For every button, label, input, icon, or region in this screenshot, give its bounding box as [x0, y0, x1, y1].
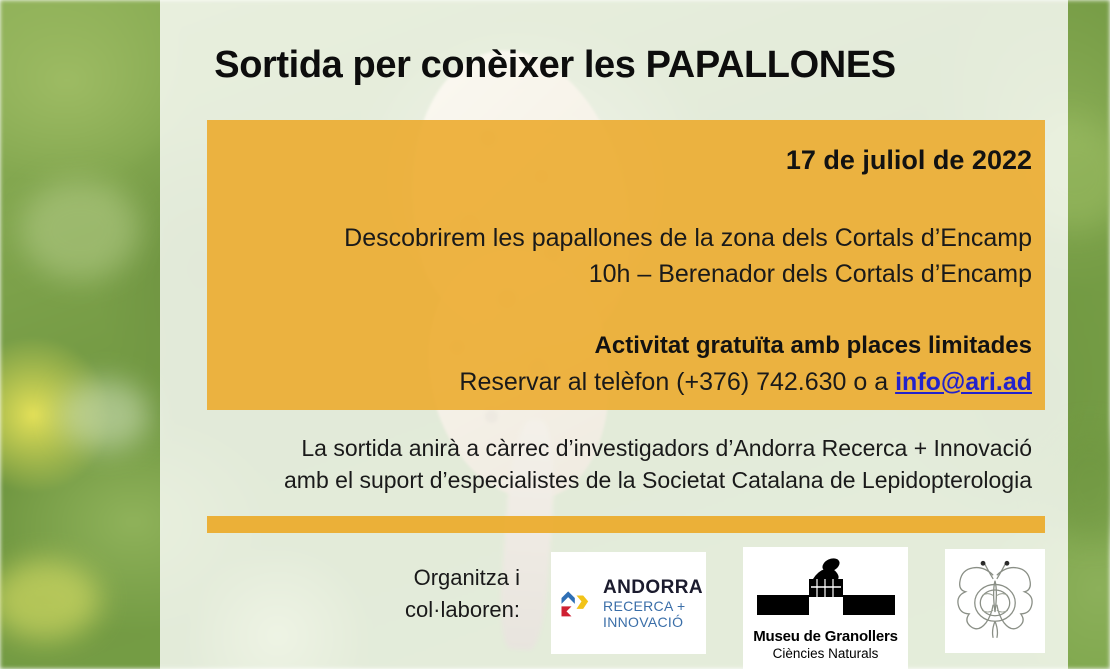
logo-museu-granollers: Museu de Granollers Ciències Naturals [743, 547, 908, 669]
organizers-label-line-1: Organitza i [310, 562, 520, 594]
logo-andorra-recerca-innovacio: ANDORRA RECERCA + INNOVACIÓ [551, 552, 706, 654]
organizers-label-line-2: col·laboren: [310, 594, 520, 626]
museu-name: Museu de Granollers [743, 628, 908, 645]
ari-word-recerca: RECERCA + [603, 599, 703, 613]
organizers-label: Organitza i col·laboren: [310, 562, 520, 626]
free-activity-notice: Activitat gratuïta amb places limitades [595, 332, 1032, 360]
event-date: 17 de juliol de 2022 [786, 145, 1032, 176]
butterfly-outline-icon [949, 555, 1041, 647]
ari-mark-icon [554, 583, 594, 623]
credit-line-1: La sortida anirà a càrrec d’investigador… [172, 432, 1032, 464]
description-line-2: 10h – Berenador dels Cortals d’Encamp [232, 256, 1032, 292]
reservation-line: Reservar al telèfon (+376) 742.630 o a i… [459, 368, 1032, 397]
event-description: Descobrirem les papallones de la zona de… [232, 220, 1032, 292]
page-title: Sortida per conèixer les PAPALLONES [0, 44, 1110, 87]
poster: Sortida per conèixer les PAPALLONES 17 d… [0, 0, 1110, 669]
museu-mark-icon [751, 557, 901, 619]
reservation-text: Reservar al telèfon (+376) 742.630 o a [459, 368, 895, 396]
ari-word-innovacio: INNOVACIÓ [603, 615, 703, 629]
ari-word-andorra: ANDORRA [603, 578, 703, 597]
credit-line-2: amb el suport d’especialistes de la Soci… [172, 464, 1032, 496]
yellow-divider-strip [207, 516, 1045, 533]
logo-societat-catalana-lepidopterologia [945, 549, 1045, 653]
museu-subtitle: Ciències Naturals [743, 646, 908, 661]
description-line-1: Descobrirem les papallones de la zona de… [232, 220, 1032, 256]
credits-text: La sortida anirà a càrrec d’investigador… [172, 432, 1032, 496]
email-link[interactable]: info@ari.ad [895, 368, 1032, 396]
